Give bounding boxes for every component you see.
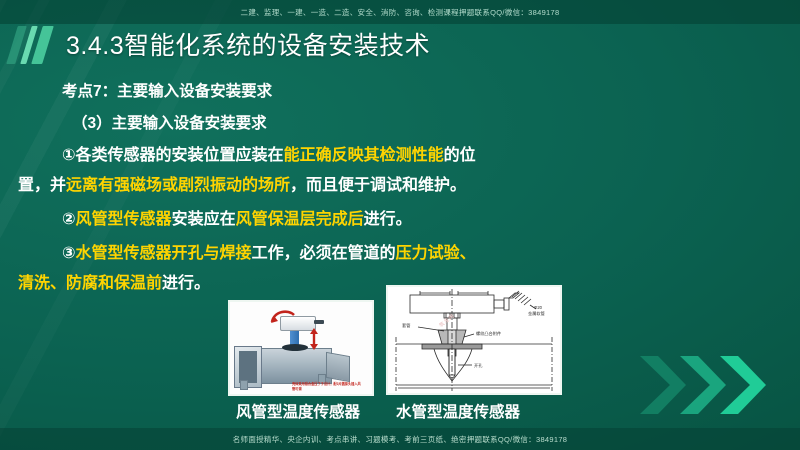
figure-duct-sensor-photo: 壳体采用铝合金压了子设计，配2片圆探头插入风管可调 [228, 300, 374, 396]
red-curved-arrow-icon [270, 308, 296, 324]
item3-highlight-3: 清洗、防腐和保温前 [18, 275, 162, 292]
item3-highlight-2: 压力试验、 [396, 245, 476, 262]
item1-line1-highlight: 能正确反映其检测性能 [284, 147, 444, 164]
keypoint-heading: 考点7：主要输入设备安装要求 [62, 84, 272, 100]
item1-line1: ①各类传感器的安装位置应装在能正确反映其检测性能的位 [62, 148, 476, 164]
duct-photo-note: 壳体采用铝合金压了子设计，配2片圆探头插入风管可调 [292, 382, 362, 392]
item3-mid: 工作，必须在管道的 [252, 245, 396, 262]
item1-line1-tail: 的位 [444, 147, 476, 164]
item3-line1: ③水管型传感器开孔与焊接工作，必须在管道的压力试验、 [62, 246, 476, 262]
item3-highlight-1: 水管型传感器开孔与焊接 [76, 245, 252, 262]
item1-line2-highlight: 远离有强磁场或剧烈振动的场所 [66, 177, 290, 194]
drawing-label-hole: 开孔 [474, 362, 483, 369]
figure-right-caption: 水管型温度传感器 [396, 400, 520, 422]
drawing-label-dia: Φ20 [534, 305, 543, 310]
red-double-arrow-icon [308, 328, 320, 350]
slide-canvas: 二建、监理、一建、一造、二造、安全、消防、咨询、检测课程押题联系QQ/微信：38… [0, 0, 800, 450]
item1-line1-plain: ①各类传感器的安装位置应装在 [62, 147, 284, 164]
item2-line: ②风管型传感器安装应在风管保温层完成后进行。 [62, 212, 412, 228]
bottom-promo-text: 名师面授精华、央企内训、考点串讲、习题模考、考前三页纸、绝密押题联系QQ/微信：… [233, 434, 568, 445]
item1-line2-plain: 置，并 [18, 177, 66, 194]
figure-left-caption: 风管型温度传感器 [236, 400, 360, 422]
drawing-label-boss: 螺纹凸台附件 [476, 330, 501, 337]
page-title: 3.4.3智能化系统的设备安装技术 [66, 24, 430, 64]
duct-sensor-illustration-icon: 壳体采用铝合金压了子设计，配2片圆探头插入风管可调 [230, 302, 372, 394]
slash-decoration-icon [10, 26, 64, 64]
item2-tail: 进行。 [364, 211, 412, 228]
top-promo-banner: 二建、监理、一建、一造、二造、安全、消防、咨询、检测课程押题联系QQ/微信：38… [0, 0, 800, 24]
slide-title-row: 3.4.3智能化系统的设备安装技术 [0, 24, 800, 64]
chevron-right-icon-3 [716, 352, 768, 418]
item2-highlight-1: 风管型传感器 [76, 211, 172, 228]
drawing-watermark: 筑龙网 [438, 312, 457, 329]
item1-line2: 置，并远离有强磁场或剧烈振动的场所，而且便于调试和维护。 [18, 178, 466, 194]
item2-mid: 安装应在 [172, 211, 236, 228]
bottom-promo-banner: 名师面授精华、央企内训、考点串讲、习题模考、考前三页纸、绝密押题联系QQ/微信：… [0, 428, 800, 450]
item3-line2: 清洗、防腐和保温前进行。 [18, 276, 210, 292]
water-sensor-schematic-icon: 套管 螺纹凸台附件 开孔 Φ20 金属软管 筑龙网 [388, 287, 560, 393]
figure-water-pipe-sensor-drawing: 套管 螺纹凸台附件 开孔 Φ20 金属软管 筑龙网 [386, 285, 562, 395]
sub-heading: （3）主要输入设备安装要求 [72, 116, 267, 132]
item1-line2-tail: ，而且便于调试和维护。 [290, 177, 466, 194]
item2-marker: ② [62, 211, 76, 228]
drawing-label-conduit: 金属软管 [528, 310, 545, 317]
item2-highlight-2: 风管保温层完成后 [236, 211, 364, 228]
item3-tail: 进行。 [162, 275, 210, 292]
top-promo-text: 二建、监理、一建、一造、二造、安全、消防、咨询、检测课程押题联系QQ/微信：38… [241, 7, 560, 18]
drawing-label-sleeve: 套管 [402, 322, 410, 329]
item3-marker: ③ [62, 245, 76, 262]
